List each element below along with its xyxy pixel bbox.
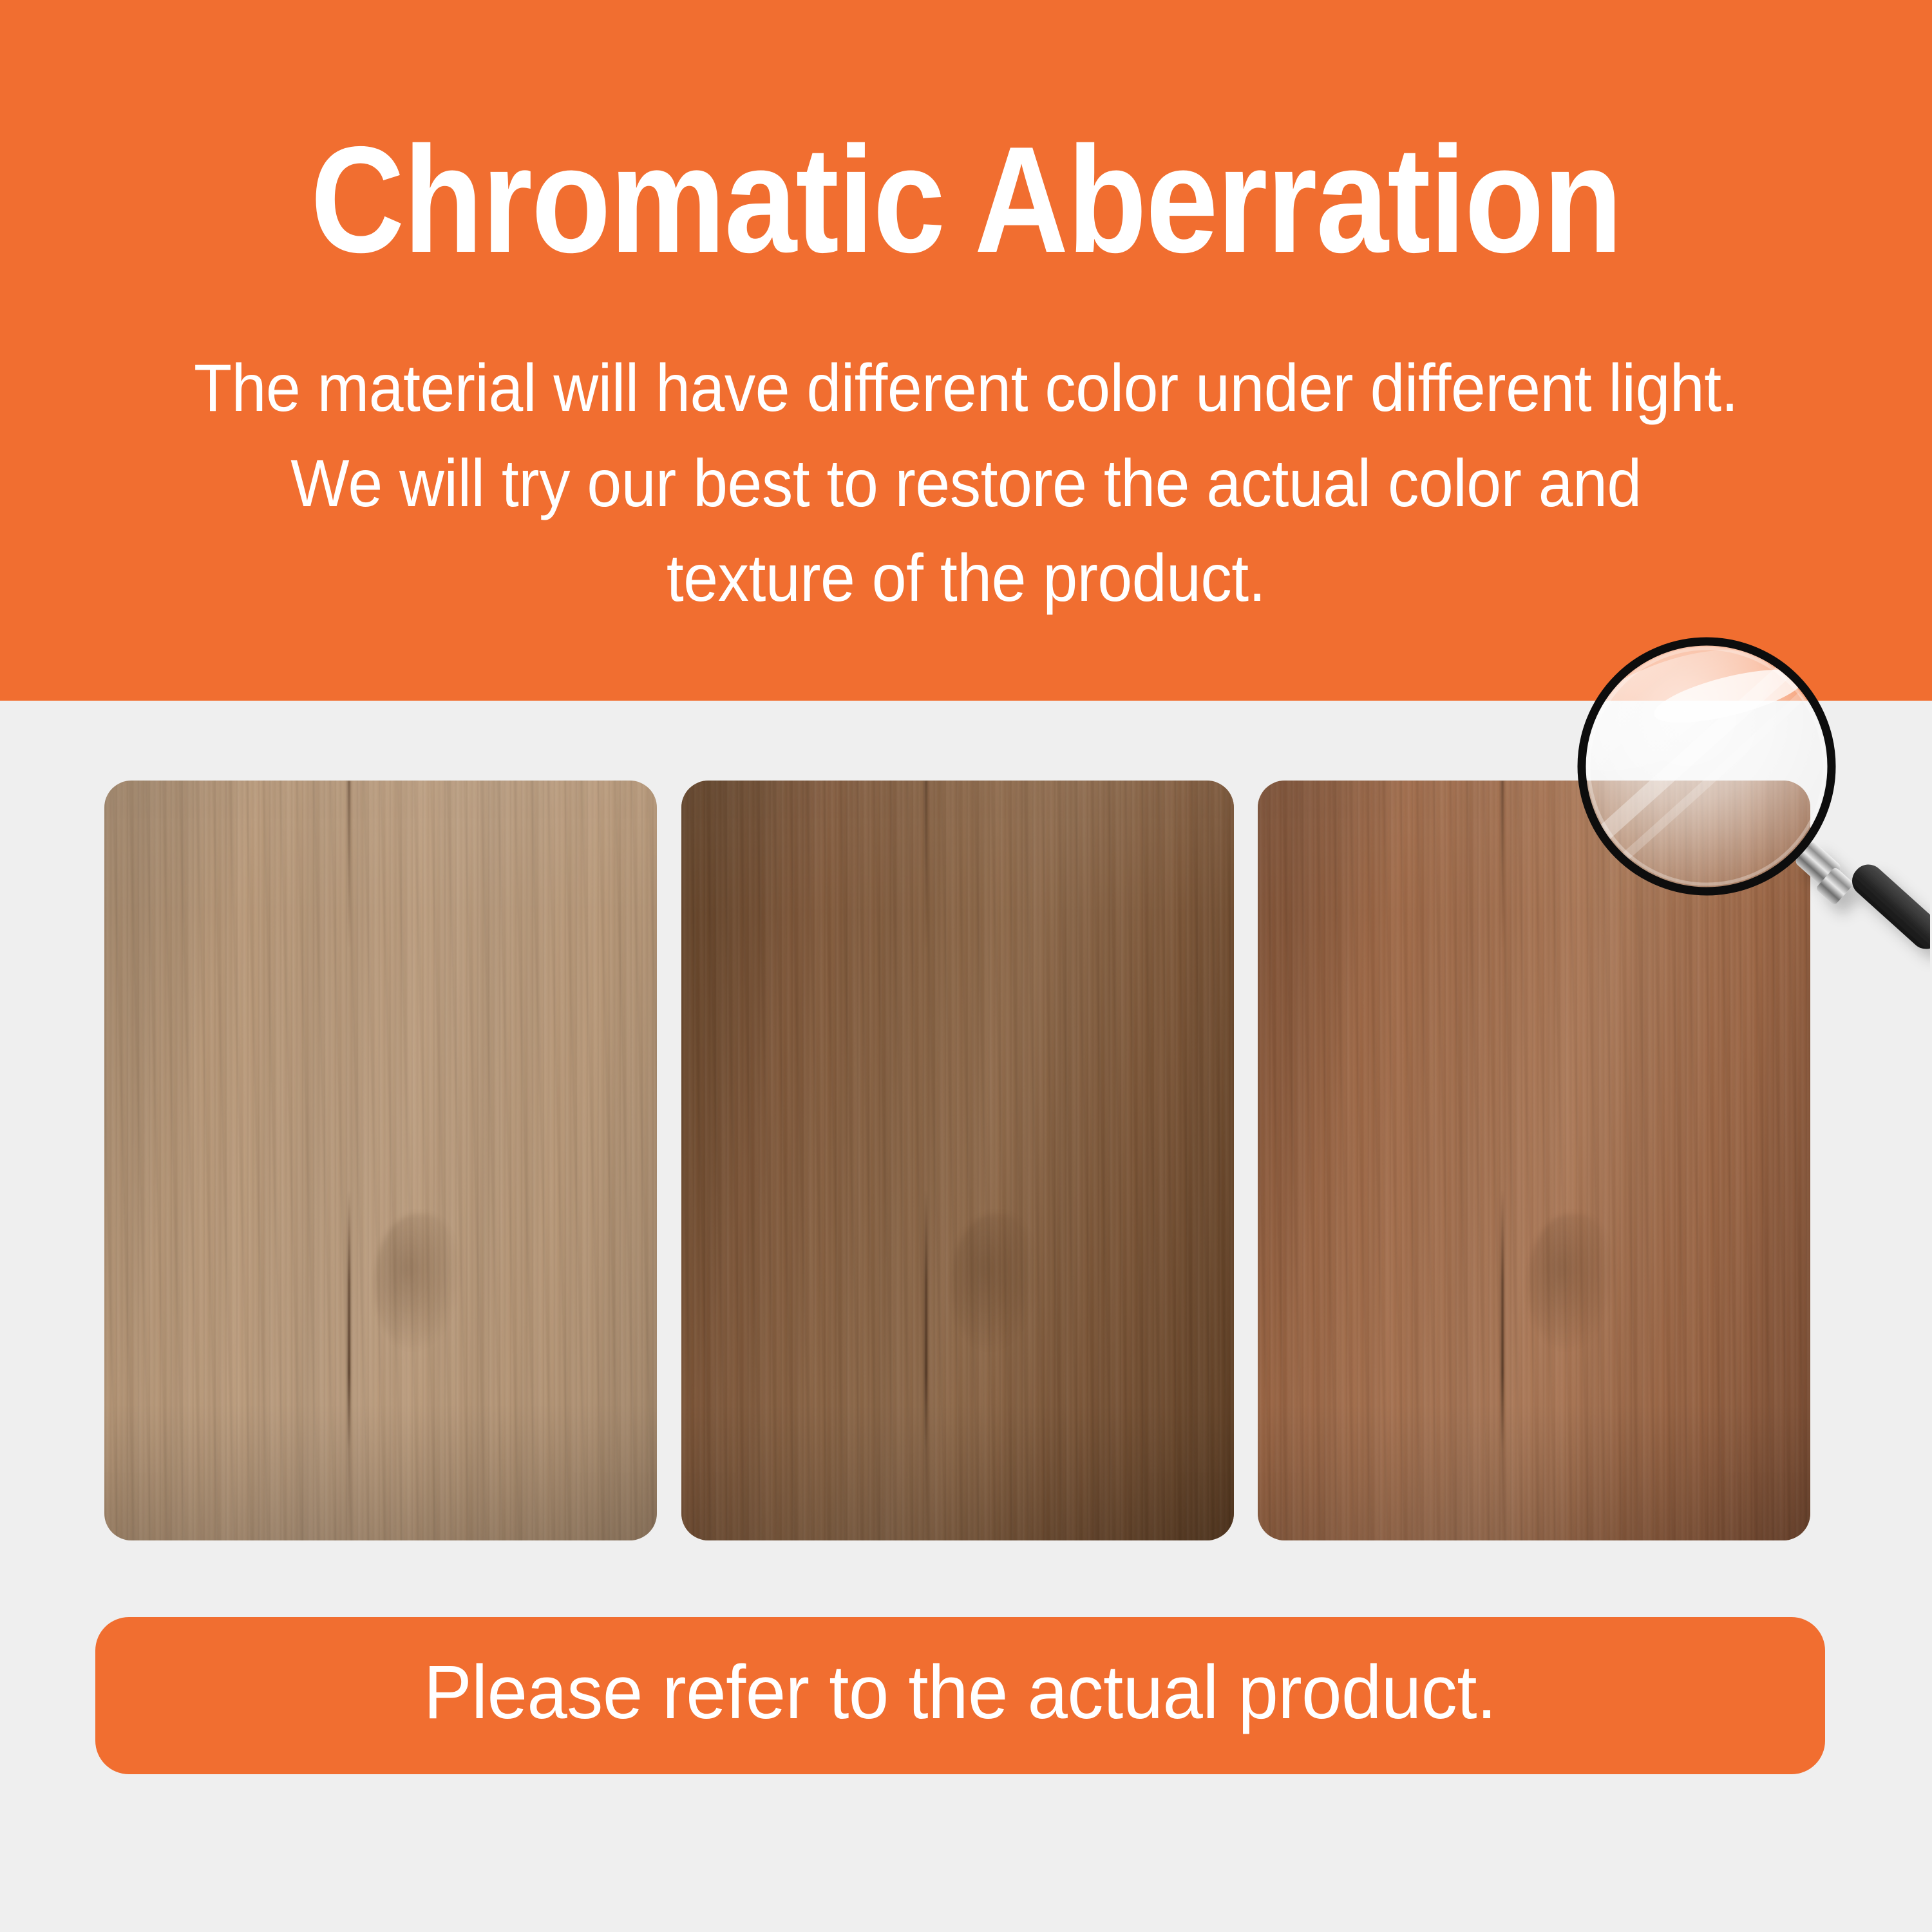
wood-swatch-row bbox=[104, 781, 1808, 1540]
header-band: Chromatic Aberration The material will h… bbox=[0, 0, 1932, 701]
wood-shading-overlay bbox=[104, 781, 657, 1540]
magnifier-handle bbox=[1794, 840, 1930, 956]
subtitle-line-1: The material will have different color u… bbox=[68, 341, 1864, 437]
subtitle-line-2: We will try our best to restore the actu… bbox=[68, 437, 1864, 532]
page-title: Chromatic Aberration bbox=[135, 124, 1797, 275]
dark-oak-swatch bbox=[681, 781, 1234, 1540]
light-oak-swatch bbox=[104, 781, 657, 1540]
bottom-banner-label: Please refer to the actual product. bbox=[424, 1654, 1497, 1730]
chromatic-aberration-infographic: Chromatic Aberration The material will h… bbox=[0, 0, 1932, 1932]
warm-oak-swatch bbox=[1258, 781, 1810, 1540]
wood-shading-overlay bbox=[681, 781, 1234, 1540]
header-subtitle: The material will have different color u… bbox=[68, 341, 1864, 627]
wood-shading-overlay bbox=[1258, 781, 1810, 1540]
bottom-banner: Please refer to the actual product. bbox=[95, 1617, 1825, 1774]
subtitle-line-3: texture of the product. bbox=[68, 531, 1864, 627]
